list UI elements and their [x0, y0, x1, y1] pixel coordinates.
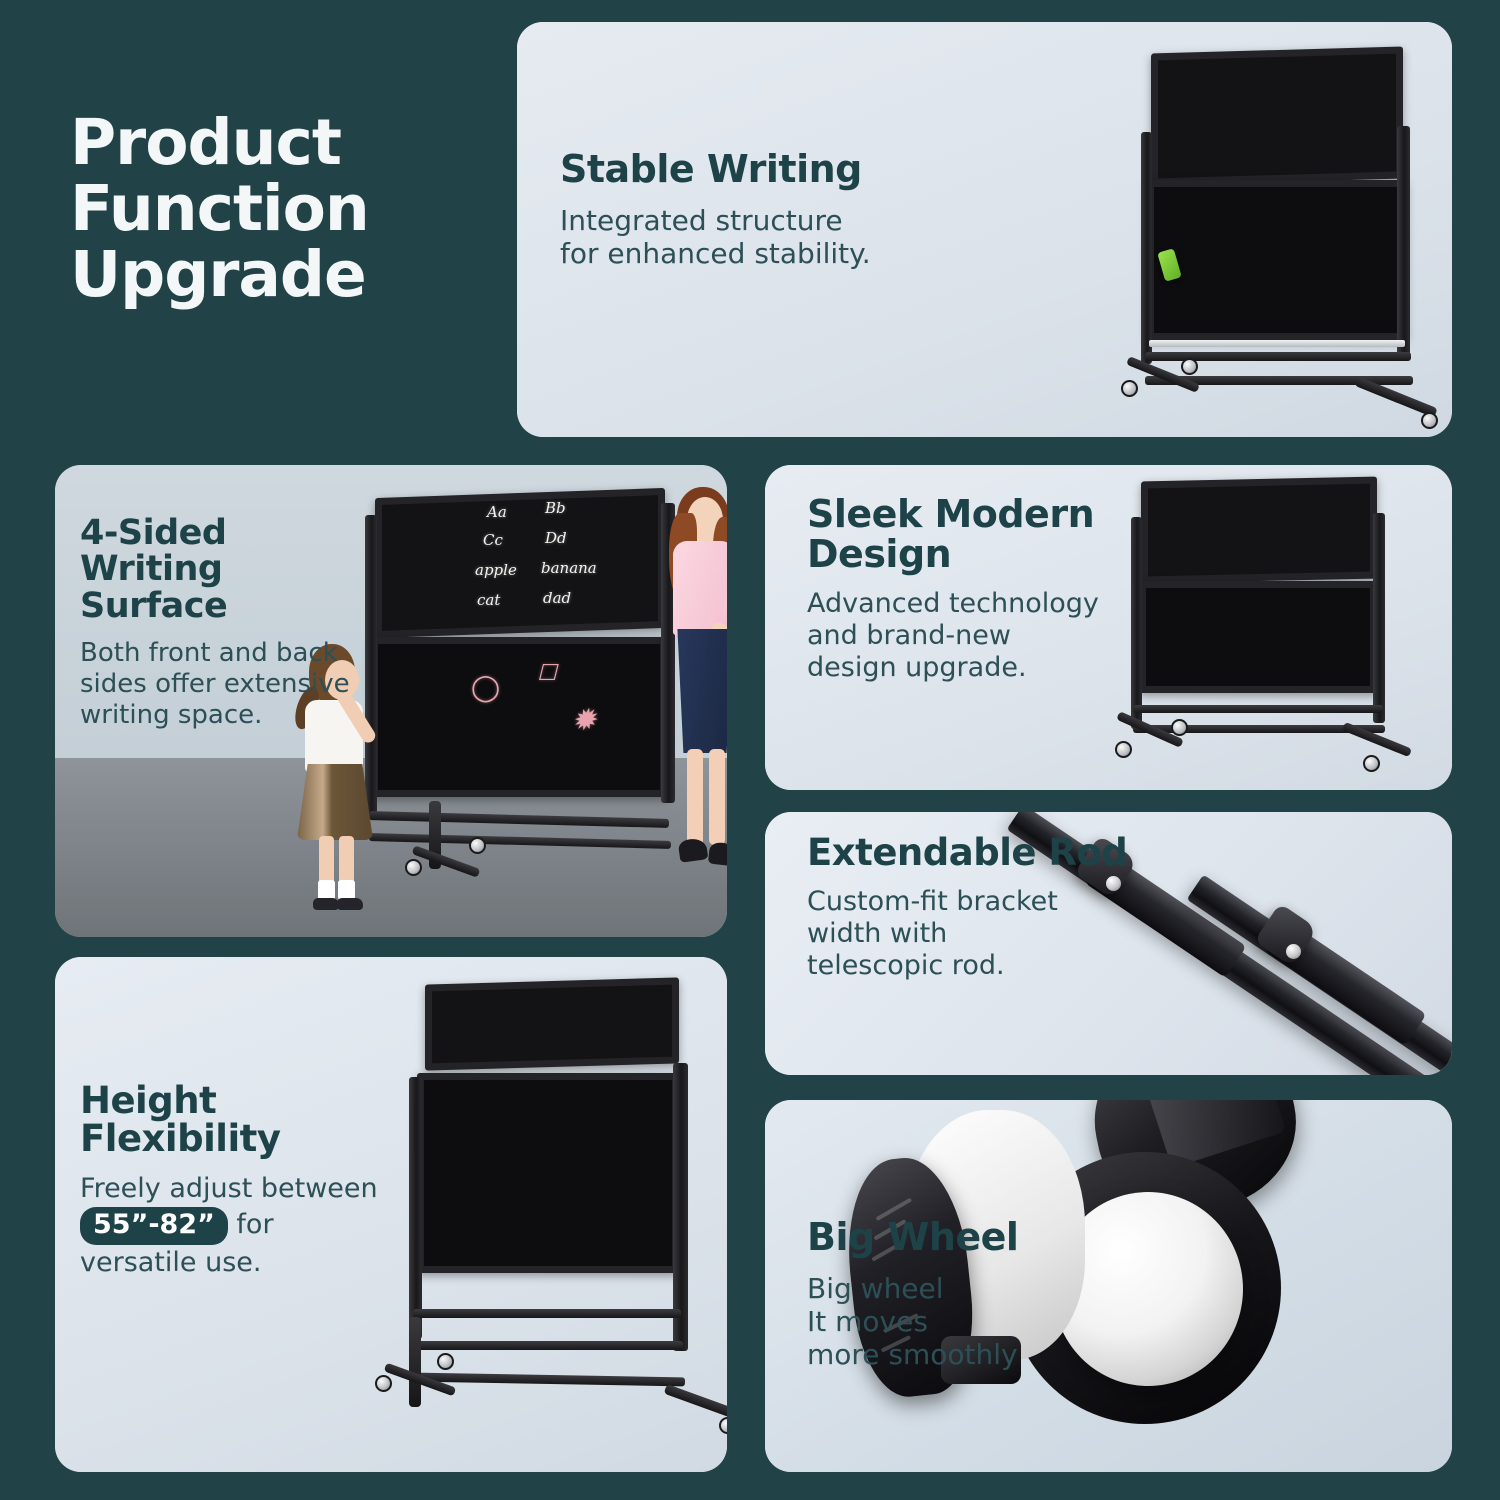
extendable-rod-heading: Extendable Rod	[807, 834, 1127, 872]
stable-writing-body: Integrated structure for enhanced stabil…	[560, 204, 871, 270]
four-sided-heading: 4-Sided Writing Surface	[80, 515, 350, 624]
card-four-sided-writing-surface: Aa Bb Cc Dd apple banana cat dad ◯ ☐ ✹	[55, 465, 727, 937]
height-body-line-2: 55”-82” for	[80, 1207, 378, 1245]
four-sided-text: 4-Sided Writing Surface Both front and b…	[80, 515, 350, 730]
card-extendable-rod: Extendable Rod Custom-fit bracket width …	[765, 812, 1452, 1075]
height-body-line-3: versatile use.	[80, 1247, 378, 1279]
card-height-flexibility: Height Flexibility Freely adjust between…	[55, 957, 727, 1472]
sleek-modern-text: Sleek Modern Design Advanced technology …	[807, 495, 1099, 684]
height-flexibility-text: Height Flexibility Freely adjust between…	[80, 1082, 378, 1279]
card-stable-writing: Stable Writing Integrated structure for …	[517, 22, 1452, 437]
adult-figure	[655, 483, 727, 913]
height-flexibility-body: Freely adjust between 55”-82” for versat…	[80, 1173, 378, 1279]
sleek-modern-body: Advanced technology and brand-new design…	[807, 588, 1099, 684]
title-line-2: Function	[70, 176, 490, 242]
big-wheel-text: Big Wheel Big wheel It moves more smooth…	[807, 1218, 1018, 1371]
height-body-line-1: Freely adjust between	[80, 1173, 378, 1205]
stable-writing-text: Stable Writing Integrated structure for …	[560, 150, 871, 270]
title-line-1: Product	[70, 110, 490, 176]
title-line-3: Upgrade	[70, 242, 490, 308]
height-flexibility-heading: Height Flexibility	[80, 1082, 378, 1159]
infographic-root: Product Function Upgrade	[0, 0, 1500, 1500]
card-sleek-modern-design: Sleek Modern Design Advanced technology …	[765, 465, 1452, 790]
stable-writing-heading: Stable Writing	[560, 150, 871, 190]
page-title: Product Function Upgrade	[70, 110, 490, 308]
height-body-after-badge: for	[228, 1209, 274, 1240]
big-wheel-heading: Big Wheel	[807, 1218, 1018, 1258]
sleek-modern-heading: Sleek Modern Design	[807, 495, 1099, 574]
extendable-rod-text: Extendable Rod Custom-fit bracket width …	[807, 834, 1127, 982]
four-sided-body: Both front and back sides offer extensiv…	[80, 638, 350, 730]
height-range-badge: 55”-82”	[80, 1207, 228, 1245]
extendable-rod-body: Custom-fit bracket width with telescopic…	[807, 886, 1127, 982]
card-big-wheel: Big Wheel Big wheel It moves more smooth…	[765, 1100, 1452, 1472]
big-wheel-body: Big wheel It moves more smoothly	[807, 1272, 1018, 1371]
